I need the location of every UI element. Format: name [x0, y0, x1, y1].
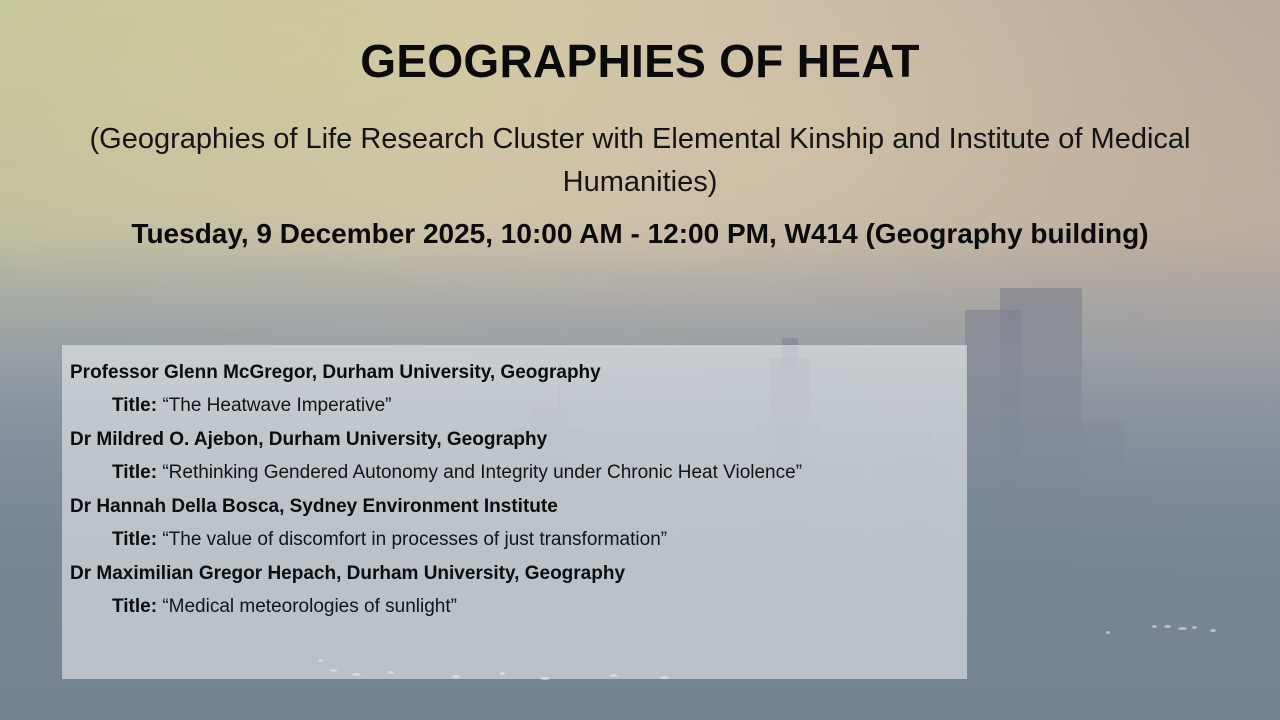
- title-text: “Medical meteorologies of sunlight”: [162, 596, 457, 617]
- slide-subtitle: (Geographies of Life Research Cluster wi…: [56, 118, 1224, 204]
- speaker-entry: Dr Hannah Della Bosca, Sydney Environmen…: [70, 487, 941, 554]
- page-title: GEOGRAPHIES OF HEAT: [0, 36, 1280, 88]
- speaker-list-panel: Professor Glenn McGregor, Durham Univers…: [62, 345, 967, 679]
- title-text: “Rethinking Gendered Autonomy and Integr…: [162, 462, 802, 483]
- title-text: “The Heatwave Imperative”: [162, 395, 391, 416]
- speaker-talk-title: Title: “The value of discomfort in proce…: [112, 516, 941, 554]
- speaker-name: Dr Maximilian Gregor Hepach, Durham Univ…: [70, 554, 941, 583]
- title-text: “The value of discomfort in processes of…: [162, 529, 667, 550]
- speaker-entry: Dr Maximilian Gregor Hepach, Durham Univ…: [70, 554, 941, 621]
- speaker-name: Dr Hannah Della Bosca, Sydney Environmen…: [70, 487, 941, 516]
- title-label: Title:: [112, 395, 157, 416]
- speaker-talk-title: Title: “Rethinking Gendered Autonomy and…: [112, 449, 941, 487]
- title-label: Title:: [112, 529, 157, 550]
- event-datetime-location: Tuesday, 9 December 2025, 10:00 AM - 12:…: [0, 216, 1280, 252]
- speaker-name: Dr Mildred O. Ajebon, Durham University,…: [70, 420, 941, 449]
- speaker-name: Professor Glenn McGregor, Durham Univers…: [70, 353, 941, 382]
- speaker-entry: Dr Mildred O. Ajebon, Durham University,…: [70, 420, 941, 487]
- slide-content: GEOGRAPHIES OF HEAT (Geographies of Life…: [0, 0, 1280, 720]
- speaker-talk-title: Title: “Medical meteorologies of sunligh…: [112, 583, 941, 621]
- speaker-talk-title: Title: “The Heatwave Imperative”: [112, 382, 941, 420]
- speaker-entry: Professor Glenn McGregor, Durham Univers…: [70, 353, 941, 420]
- presentation-slide: GEOGRAPHIES OF HEAT (Geographies of Life…: [0, 0, 1280, 720]
- title-label: Title:: [112, 596, 157, 617]
- title-label: Title:: [112, 462, 157, 483]
